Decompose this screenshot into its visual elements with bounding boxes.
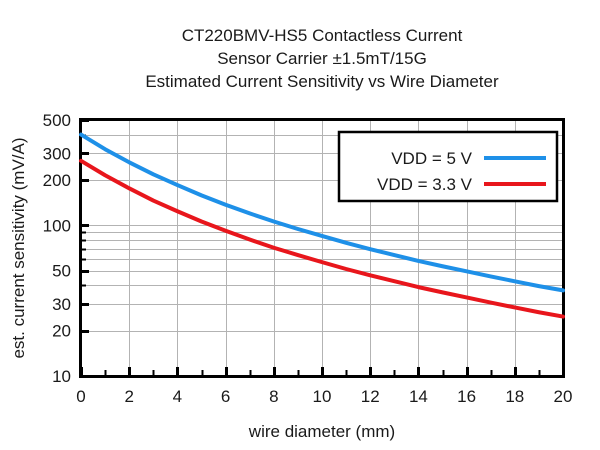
chart-title-line-1: CT220BMV-HS5 Contactless Current	[182, 26, 463, 45]
y-tick-label: 300	[43, 144, 71, 163]
y-tick-label: 500	[43, 111, 71, 130]
legend: VDD = 5 VVDD = 3.3 V	[339, 132, 557, 201]
y-tick-label: 100	[43, 216, 71, 235]
chart-figure: CT220BMV-HS5 Contactless Current Sensor …	[0, 0, 600, 450]
x-tick-label: 14	[409, 387, 428, 406]
legend-label: VDD = 5 V	[391, 149, 472, 168]
x-axis-tick-labels: 02468101214161820	[76, 387, 572, 406]
chart-title: CT220BMV-HS5 Contactless Current Sensor …	[145, 26, 499, 91]
x-axis-title: wire diameter (mm)	[248, 422, 395, 441]
y-tick-label: 200	[43, 171, 71, 190]
y-tick-label: 10	[52, 367, 71, 386]
y-tick-label: 20	[52, 322, 71, 341]
y-tick-label: 50	[52, 262, 71, 281]
x-tick-label: 0	[76, 387, 85, 406]
y-tick-label: 30	[52, 295, 71, 314]
y-axis-title: est. current sensitivity (mV/A)	[9, 137, 28, 358]
x-tick-label: 12	[361, 387, 380, 406]
x-tick-label: 16	[457, 387, 476, 406]
sensitivity-vs-wire-diameter-chart: CT220BMV-HS5 Contactless Current Sensor …	[0, 0, 600, 450]
y-axis-tick-labels: 10203050100200300500	[43, 111, 71, 386]
x-tick-label: 6	[221, 387, 230, 406]
x-tick-label: 4	[173, 387, 182, 406]
x-tick-label: 20	[554, 387, 573, 406]
x-tick-label: 8	[269, 387, 278, 406]
chart-title-line-2: Sensor Carrier ±1.5mT/15G	[217, 49, 427, 68]
x-tick-label: 10	[313, 387, 332, 406]
legend-label: VDD = 3.3 V	[377, 175, 473, 194]
x-tick-label: 2	[124, 387, 133, 406]
chart-title-line-3: Estimated Current Sensitivity vs Wire Di…	[145, 72, 499, 91]
x-tick-label: 18	[505, 387, 524, 406]
